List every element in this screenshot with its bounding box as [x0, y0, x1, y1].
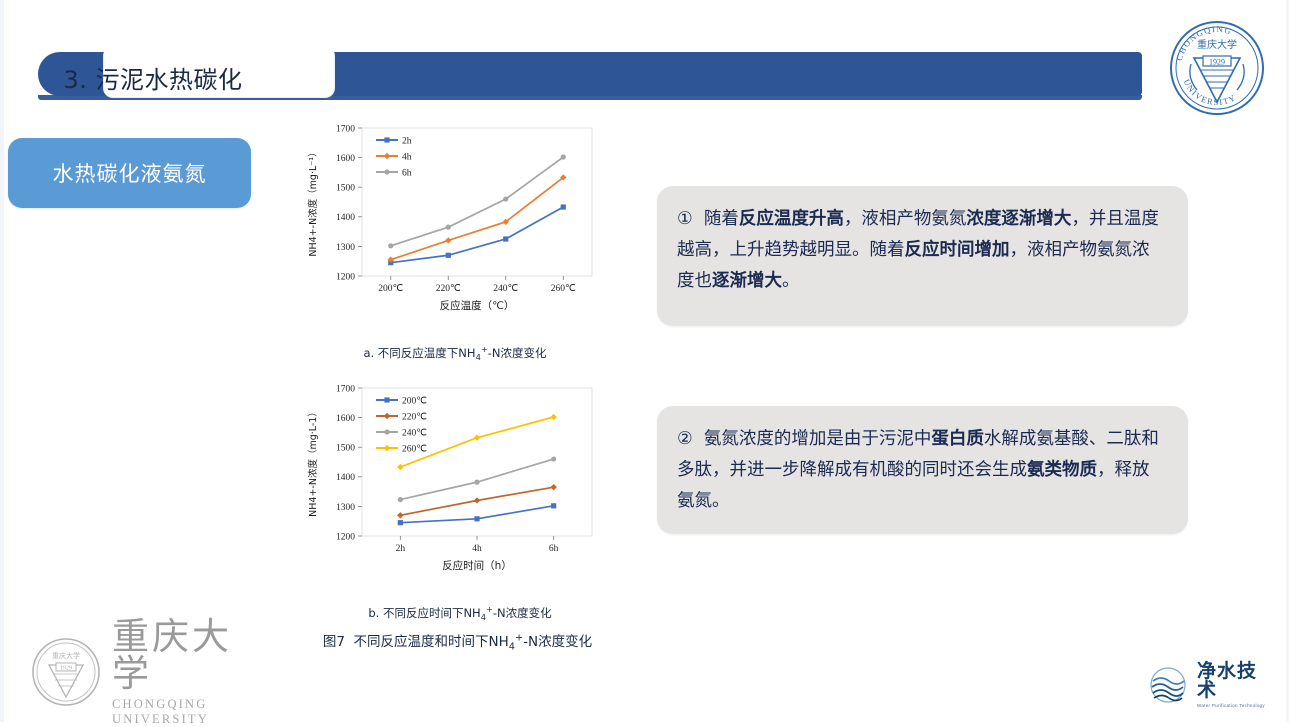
legend-label: 6h — [402, 168, 412, 178]
data-point-marker — [561, 154, 566, 159]
y-axis-tick-label: 1200 — [336, 272, 355, 282]
x-axis-title: 反应温度（℃） — [440, 299, 515, 312]
chart-time: 1200130014001500160017002h4h6h反应时间（h）NH4… — [300, 378, 600, 578]
data-point-marker — [551, 456, 556, 461]
legend-label: 240℃ — [402, 428, 427, 438]
data-point-marker — [474, 516, 479, 521]
cqu-seal-logo: CHONGQING UNIVERSITY 重庆大学 1929 — [1167, 18, 1267, 118]
data-point-marker — [474, 480, 479, 485]
footer-university-logo: 1929 重庆大学 重庆大学 CHONGQING UNIVERSITY — [30, 632, 270, 712]
data-point-marker — [446, 253, 451, 258]
x-axis-tick-label: 240℃ — [493, 284, 518, 294]
legend-label: 220℃ — [402, 412, 427, 422]
callout-text: 。 — [782, 271, 800, 291]
callout-text: 随着 — [704, 209, 739, 229]
svg-text:1929: 1929 — [1209, 58, 1225, 67]
page-title: 3. 污泥水热碳化 — [38, 52, 268, 102]
legend-label: 200℃ — [402, 396, 427, 406]
callout-marker: ① — [677, 209, 704, 229]
callout-marker: ② — [677, 429, 704, 449]
caption-figure: 图7 不同反应温度和时间下NH4+-N浓度变化 — [285, 630, 630, 653]
y-axis-tick-label: 1600 — [336, 154, 355, 164]
callout-emphasis: 反应时间增加 — [905, 240, 1010, 260]
title-banner: 3. 污泥水热碳化 — [38, 52, 1142, 96]
x-axis-tick-label: 200℃ — [378, 284, 403, 294]
x-axis-tick-label: 4h — [472, 544, 482, 554]
caption-a: a. 不同反应温度下NH4+-N浓度变化 — [290, 344, 620, 362]
water-wave-icon — [1145, 665, 1191, 705]
y-axis-tick-label: 1200 — [336, 532, 355, 542]
data-point-marker — [503, 196, 508, 201]
footer-logo-cn: 重庆大学 — [112, 618, 270, 692]
y-axis-tick-label: 1700 — [336, 384, 355, 394]
y-axis-title: NH4+-N浓度（mg·L-1） — [307, 407, 319, 517]
y-axis-tick-label: 1500 — [336, 444, 355, 454]
callout-emphasis: 反应温度升高 — [739, 209, 844, 229]
footer-logo-en: CHONGQING UNIVERSITY — [112, 697, 270, 727]
x-axis-tick-label: 260℃ — [551, 284, 576, 294]
chart-time-svg: 1200130014001500160017002h4h6h反应时间（h）NH4… — [300, 378, 600, 578]
data-point-marker — [503, 236, 508, 241]
y-axis-title: NH4+-N浓度（mg·L⁻¹） — [307, 147, 319, 256]
chart-temperature: 120013001400150016001700200℃220℃240℃260℃… — [300, 118, 600, 318]
svg-text:1929: 1929 — [60, 666, 72, 672]
legend-label: 2h — [402, 136, 412, 146]
chart-temperature-svg: 120013001400150016001700200℃220℃240℃260℃… — [300, 118, 600, 318]
y-axis-tick-label: 1300 — [336, 243, 355, 253]
callout-text: ，液相产物氨氮 — [844, 209, 967, 229]
footer-seal-icon: 1929 重庆大学 — [30, 636, 102, 708]
legend-label: 260℃ — [402, 444, 427, 454]
brand-logo: 净水技术 Water Purification Technology — [1145, 662, 1273, 708]
callout-emphasis: 逐渐增大 — [712, 271, 782, 291]
brand-name-cn: 净水技术 — [1197, 662, 1273, 700]
y-axis-tick-label: 1700 — [336, 124, 355, 134]
callout-text: 氨氮浓度的增加是由于污泥中 — [704, 429, 932, 449]
y-axis-tick-label: 1600 — [336, 414, 355, 424]
legend-label: 4h — [402, 152, 412, 162]
data-point-marker — [384, 397, 389, 402]
plot-frame — [362, 388, 592, 536]
slide-canvas: 3. 污泥水热碳化 水热碳化液氨氮 1200130014001500160017… — [0, 0, 1289, 722]
callout-emphasis: 蛋白质 — [931, 429, 984, 449]
data-point-marker — [384, 137, 389, 142]
x-axis-tick-label: 2h — [396, 544, 406, 554]
data-point-marker — [561, 204, 566, 209]
callout-emphasis: 浓度逐渐增大 — [966, 209, 1071, 229]
y-axis-tick-label: 1300 — [336, 503, 355, 513]
data-point-marker — [398, 520, 403, 525]
y-axis-tick-label: 1400 — [336, 213, 355, 223]
y-axis-tick-label: 1400 — [336, 473, 355, 483]
x-axis-tick-label: 220℃ — [436, 284, 461, 294]
callout-emphasis: 氨类物质 — [1027, 460, 1097, 480]
y-axis-tick-label: 1500 — [336, 184, 355, 194]
svg-text:重庆大学: 重庆大学 — [1197, 38, 1237, 51]
data-point-marker — [446, 225, 451, 230]
x-axis-title: 反应时间（h） — [442, 559, 512, 572]
caption-b: b. 不同反应时间下NH4+-N浓度变化 — [290, 604, 630, 622]
plot-frame — [362, 128, 592, 276]
callout-box-2: ② 氨氮浓度的增加是由于污泥中蛋白质水解成氨基酸、二肽和多肽，并进一步降解成有机… — [657, 406, 1188, 534]
callout-box-1: ① 随着反应温度升高，液相产物氨氮浓度逐渐增大，并且温度越高，上升趋势越明显。随… — [657, 186, 1188, 326]
brand-name-en: Water Purification Technology — [1197, 703, 1273, 708]
data-point-marker — [551, 503, 556, 508]
svg-text:重庆大学: 重庆大学 — [52, 651, 80, 660]
x-axis-tick-label: 6h — [549, 544, 559, 554]
section-pill[interactable]: 水热碳化液氨氮 — [8, 138, 251, 208]
data-point-marker — [384, 429, 389, 434]
data-point-marker — [388, 243, 393, 248]
data-point-marker — [398, 497, 403, 502]
data-point-marker — [384, 169, 389, 174]
slide-left-edge — [0, 0, 4, 722]
